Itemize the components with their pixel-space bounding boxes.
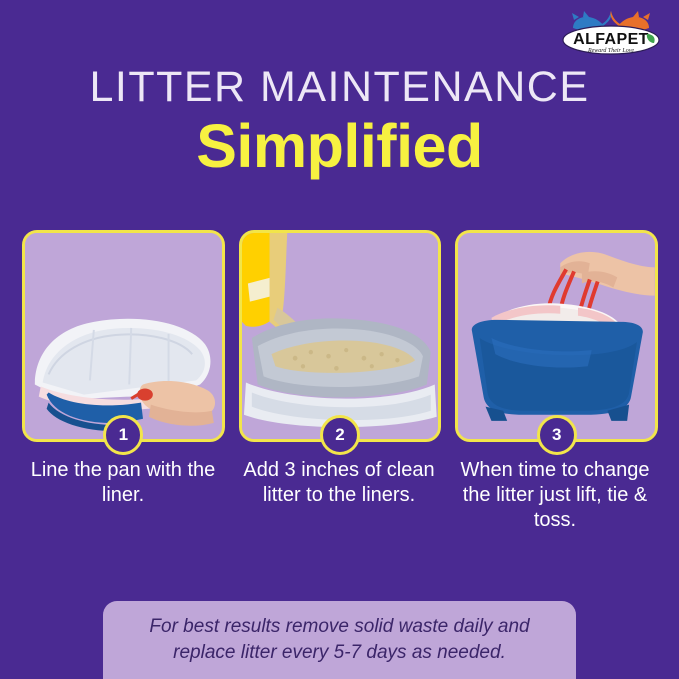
- headline-line-2: Simplified: [0, 114, 679, 178]
- alfapet-logo: ALFAPET Reward Their Love: [555, 8, 667, 58]
- lifting-tied-liner-photo: [458, 233, 655, 439]
- step-badge-2: 2: [320, 415, 360, 455]
- step-caption-3: When time to change the litter just lift…: [454, 458, 656, 538]
- steps-gallery: 1: [22, 230, 658, 436]
- headline-line-1: LITTER MAINTENANCE: [0, 62, 679, 112]
- step-card-3: 3: [455, 230, 658, 442]
- logo-wordmark: ALFAPET: [573, 31, 649, 48]
- pouring-litter-photo: [242, 233, 439, 439]
- step-captions: Line the pan with the liner. Add 3 inche…: [22, 458, 658, 538]
- step-caption-1: Line the pan with the liner.: [22, 458, 224, 538]
- infographic-page: ALFAPET Reward Their Love LITTER MAINTEN…: [0, 0, 679, 679]
- step-card-2: 2: [239, 230, 442, 442]
- liner-in-blue-pan-photo: [25, 233, 222, 439]
- step-card-1: 1: [22, 230, 225, 442]
- footer-note-text: For best results remove solid waste dail…: [103, 614, 576, 666]
- page-title: LITTER MAINTENANCE Simplified: [0, 62, 679, 178]
- step-caption-2: Add 3 inches of clean litter to the line…: [238, 458, 440, 538]
- footer-note-box: For best results remove solid waste dail…: [103, 601, 576, 679]
- step-badge-1: 1: [103, 415, 143, 455]
- logo-tagline: Reward Their Love: [587, 48, 634, 54]
- step-badge-3: 3: [537, 415, 577, 455]
- alfapet-cats-oval-logo: ALFAPET Reward Their Love: [555, 8, 667, 58]
